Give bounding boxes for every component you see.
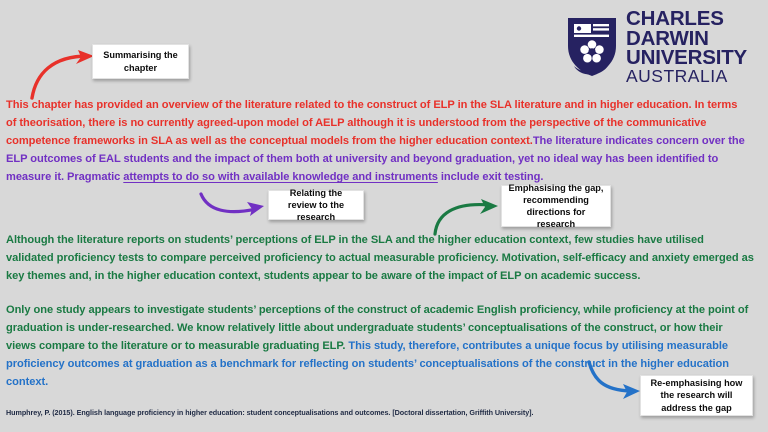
source-citation: Humphrey, P. (2015). English language pr… <box>6 408 746 417</box>
cdu-logo: CHARLES DARWIN UNIVERSITY AUSTRALIA <box>566 14 752 80</box>
paragraph-one-underlined-segment: attempts to do so with available knowled… <box>123 171 438 183</box>
green-arrow-icon <box>432 196 508 236</box>
callout-emphasising-the-gap[interactable]: Emphasising the gap, recommending direct… <box>501 185 611 227</box>
logo-line-charles: CHARLES <box>626 9 747 28</box>
paragraph-two: Although the literature reports on stude… <box>6 232 754 286</box>
callout-gap-label: Emphasising the gap, recommending direct… <box>508 182 604 231</box>
callout-relating-the-review[interactable]: Relating the review to the research <box>268 190 364 220</box>
paragraph-one: This chapter has provided an overview of… <box>6 97 748 187</box>
slide-canvas: CHARLES DARWIN UNIVERSITY AUSTRALIA Summ… <box>0 0 768 432</box>
paragraph-one-purple-segment-b: include exit testing. <box>438 171 544 183</box>
logo-line-university: UNIVERSITY <box>626 48 747 67</box>
cdu-shield-icon <box>566 16 618 78</box>
callout-summarising-the-chapter[interactable]: Summarising the chapter <box>92 44 189 79</box>
callout-summarising-label: Summarising the chapter <box>99 49 182 73</box>
callout-relating-label: Relating the review to the research <box>275 187 357 223</box>
paragraph-three: Only one study appears to investigate st… <box>6 302 754 392</box>
purple-arrow-icon <box>198 188 272 220</box>
logo-line-australia: AUSTRALIA <box>626 68 747 84</box>
paragraph-two-green-segment: Although the literature reports on stude… <box>6 234 754 282</box>
